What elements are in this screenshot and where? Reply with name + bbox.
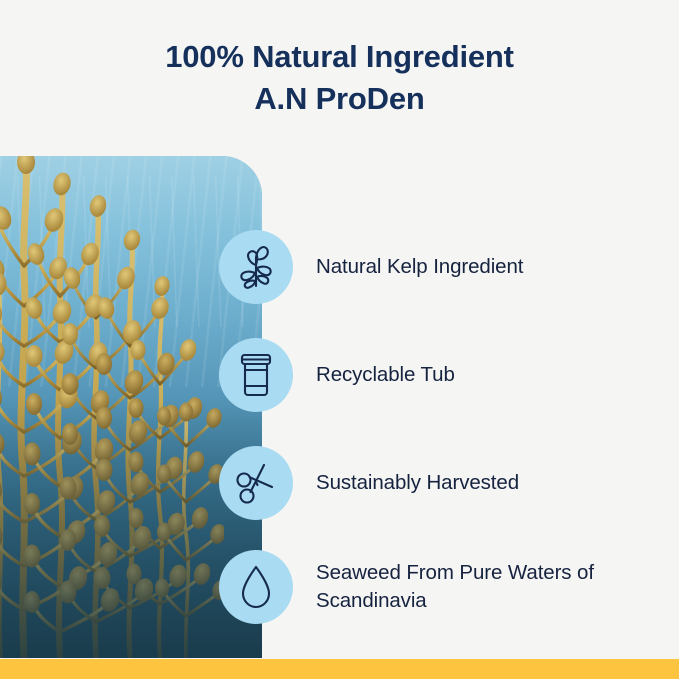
feature-item-natural-kelp: Natural Kelp Ingredient xyxy=(219,213,659,321)
page-title-line-2: A.N ProDen xyxy=(0,78,679,120)
feature-label: Natural Kelp Ingredient xyxy=(316,253,523,281)
feature-label: Sustainably Harvested xyxy=(316,469,519,497)
bottom-accent-bar xyxy=(0,659,679,679)
feature-label: Recyclable Tub xyxy=(316,361,455,389)
feature-item-pure-waters: Seaweed From Pure Waters of Scandinavia xyxy=(219,537,659,637)
feature-item-sustainably-harvested: Sustainably Harvested xyxy=(219,429,659,537)
page-title-line-1: 100% Natural Ingredient xyxy=(0,36,679,78)
page-title: 100% Natural Ingredient A.N ProDen xyxy=(0,36,679,119)
recyclable-tub-icon xyxy=(219,338,293,412)
water-droplet-icon xyxy=(219,550,293,624)
feature-list: Natural Kelp Ingredient Recyclable Tub S xyxy=(219,213,659,637)
feature-label: Seaweed From Pure Waters of Scandinavia xyxy=(316,559,659,614)
kelp-leaf-icon xyxy=(219,230,293,304)
feature-item-recyclable-tub: Recyclable Tub xyxy=(219,321,659,429)
scissors-icon xyxy=(219,446,293,520)
